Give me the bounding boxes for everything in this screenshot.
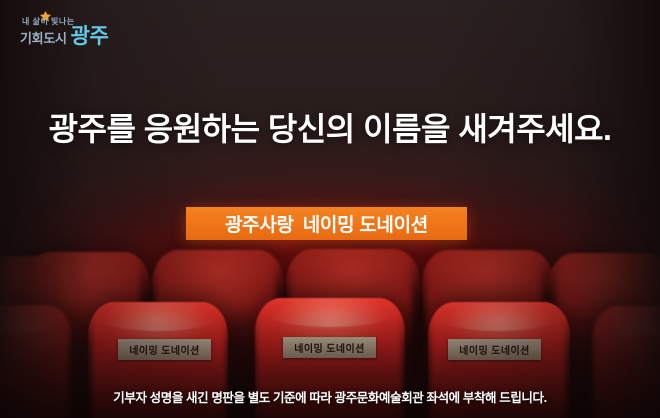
footnote-text: 기부자 성명을 새긴 명판을 별도 기준에 따라 광주문화예술회관 좌석에 부착… [0, 387, 660, 406]
logo-wordmark: 기회도시 광주 [20, 26, 108, 47]
page-title: 광주를 응원하는 당신의 이름을 새겨주세요. [0, 104, 660, 150]
donation-promo-banner: 네이밍 도네이션 네이밍 도네이션 네이밍 도네이션 내 삶이 빛나는 기회도시… [0, 0, 660, 418]
gwangju-city-logo[interactable]: 내 삶이 빛나는 기회도시 광주 [20, 12, 142, 48]
campaign-title-left: 광주사랑 [225, 215, 294, 236]
campaign-title-badge: 광주사랑네이밍 도네이션 [186, 207, 467, 240]
logo-sub-text: 기회도시 [20, 28, 67, 47]
logo-city-text: 광주 [71, 26, 109, 47]
campaign-title-text: 광주사랑네이밍 도네이션 [225, 210, 428, 237]
campaign-title-right: 네이밍 도네이션 [303, 215, 428, 236]
